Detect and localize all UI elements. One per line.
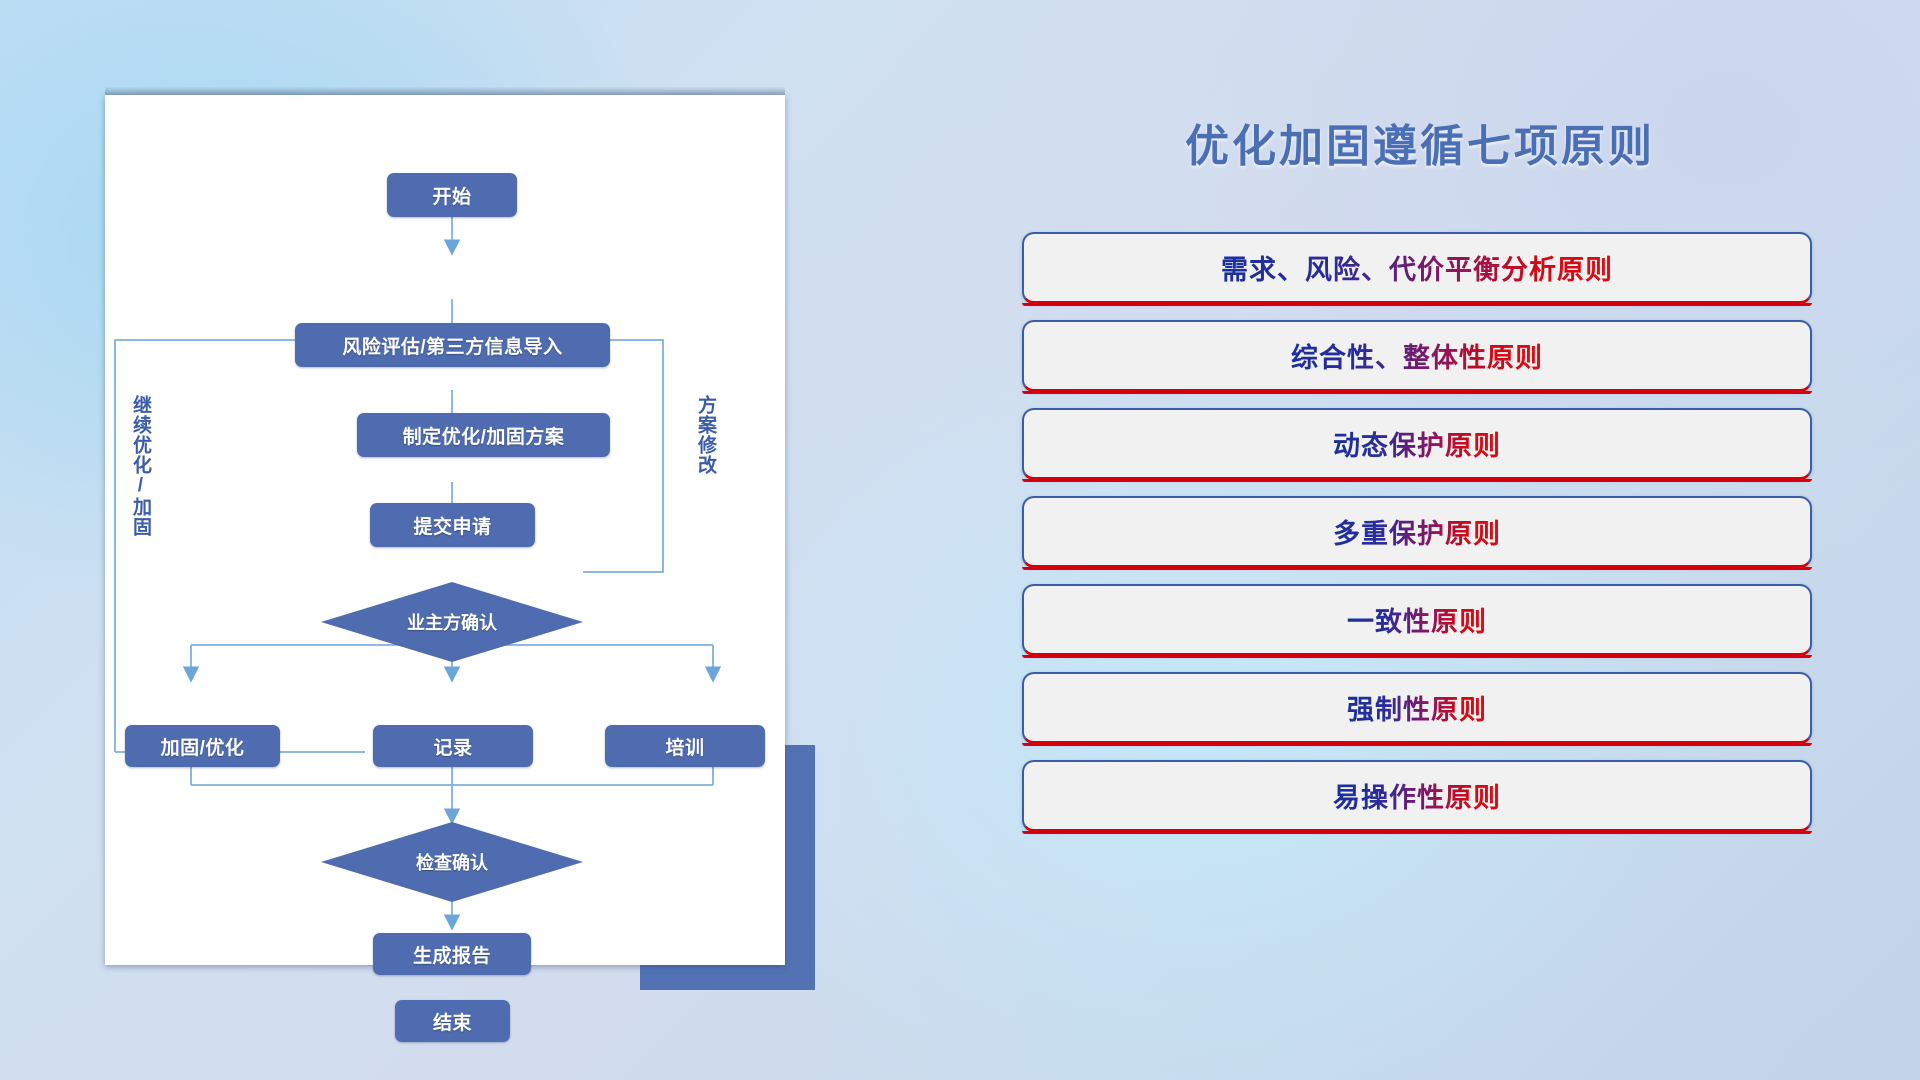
node-submit[interactable]: 提交申请 bbox=[370, 503, 535, 547]
principle-card[interactable]: 一致性原则 bbox=[1022, 584, 1812, 656]
principles-list: 需求、风险、代价平衡分析原则 综合性、整体性原则 动态保护原则 多重保护原则 一… bbox=[1022, 232, 1812, 848]
node-training[interactable]: 培训 bbox=[605, 725, 765, 767]
node-risk-assessment[interactable]: 风险评估/第三方信息导入 bbox=[295, 323, 610, 367]
principle-label: 强制性原则 bbox=[1347, 688, 1487, 727]
principle-card[interactable]: 多重保护原则 bbox=[1022, 496, 1812, 568]
flowchart-card: 开始 风险评估/第三方信息导入 制定优化/加固方案 提交申请 业主方确认 加固/… bbox=[105, 95, 785, 965]
node-record[interactable]: 记录 bbox=[373, 725, 533, 767]
node-report[interactable]: 生成报告 bbox=[373, 933, 531, 975]
node-start[interactable]: 开始 bbox=[387, 173, 517, 217]
principle-card[interactable]: 综合性、整体性原则 bbox=[1022, 320, 1812, 392]
principle-card[interactable]: 动态保护原则 bbox=[1022, 408, 1812, 480]
node-end[interactable]: 结束 bbox=[395, 1000, 510, 1042]
node-plan[interactable]: 制定优化/加固方案 bbox=[357, 413, 610, 457]
principle-label: 需求、风险、代价平衡分析原则 bbox=[1221, 248, 1613, 287]
edge-label-continue-optimize: 继续优化/加固 bbox=[130, 395, 150, 537]
principle-card[interactable]: 强制性原则 bbox=[1022, 672, 1812, 744]
principle-label: 多重保护原则 bbox=[1333, 512, 1501, 551]
principle-card[interactable]: 需求、风险、代价平衡分析原则 bbox=[1022, 232, 1812, 304]
principle-label: 综合性、整体性原则 bbox=[1291, 336, 1543, 375]
edge-label-plan-revision: 方案修改 bbox=[695, 395, 715, 475]
principle-label: 易操作性原则 bbox=[1333, 776, 1501, 815]
principle-label: 动态保护原则 bbox=[1333, 424, 1501, 463]
principle-label: 一致性原则 bbox=[1347, 600, 1487, 639]
flowchart: 开始 风险评估/第三方信息导入 制定优化/加固方案 提交申请 业主方确认 加固/… bbox=[105, 95, 785, 965]
slide-root: 开始 风险评估/第三方信息导入 制定优化/加固方案 提交申请 业主方确认 加固/… bbox=[0, 0, 1920, 1080]
principles-title: 优化加固遵循七项原则 bbox=[1020, 110, 1820, 174]
principle-card[interactable]: 易操作性原则 bbox=[1022, 760, 1812, 832]
node-reinforce[interactable]: 加固/优化 bbox=[125, 725, 280, 767]
